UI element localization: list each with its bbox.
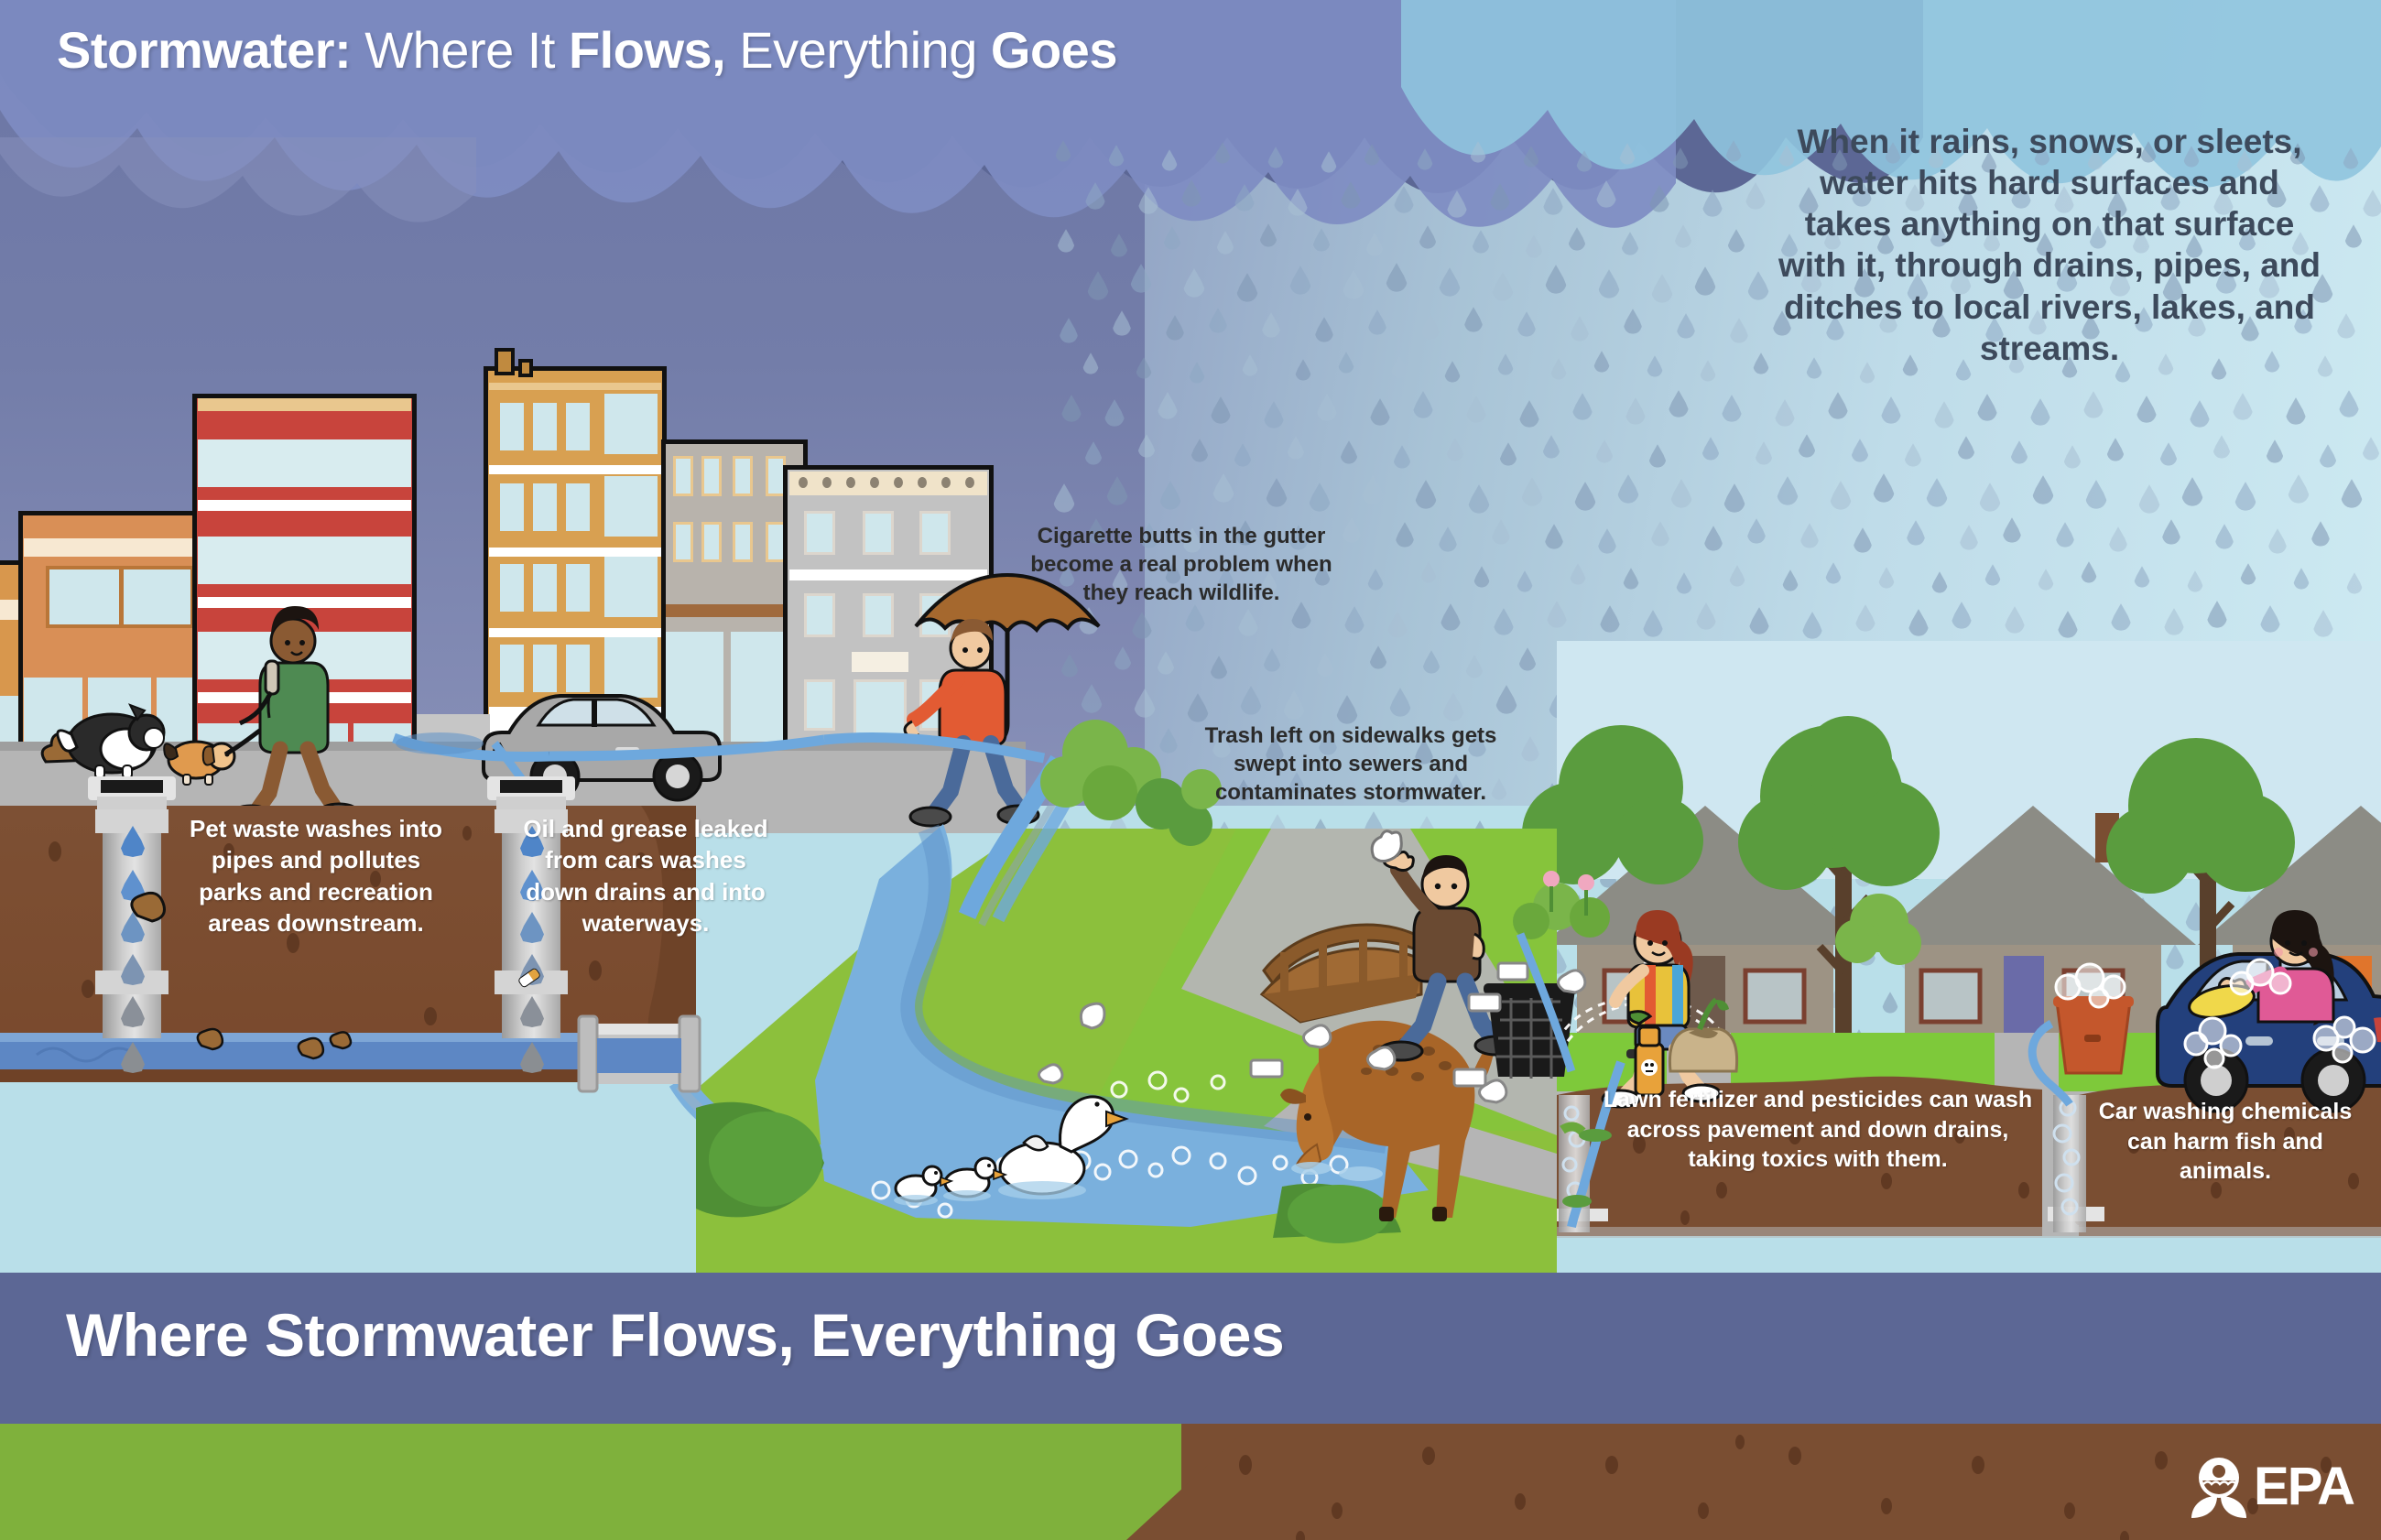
epa-seal-icon bbox=[2190, 1454, 2248, 1520]
epa-logo: EPA bbox=[2190, 1454, 2354, 1520]
infographic-canvas: Cigarette butts in the gutter become a r… bbox=[0, 0, 2381, 1540]
epa-wordmark: EPA bbox=[2254, 1460, 2354, 1513]
banner-title: Where Stormwater Flows, Everything Goes bbox=[66, 1300, 2081, 1370]
